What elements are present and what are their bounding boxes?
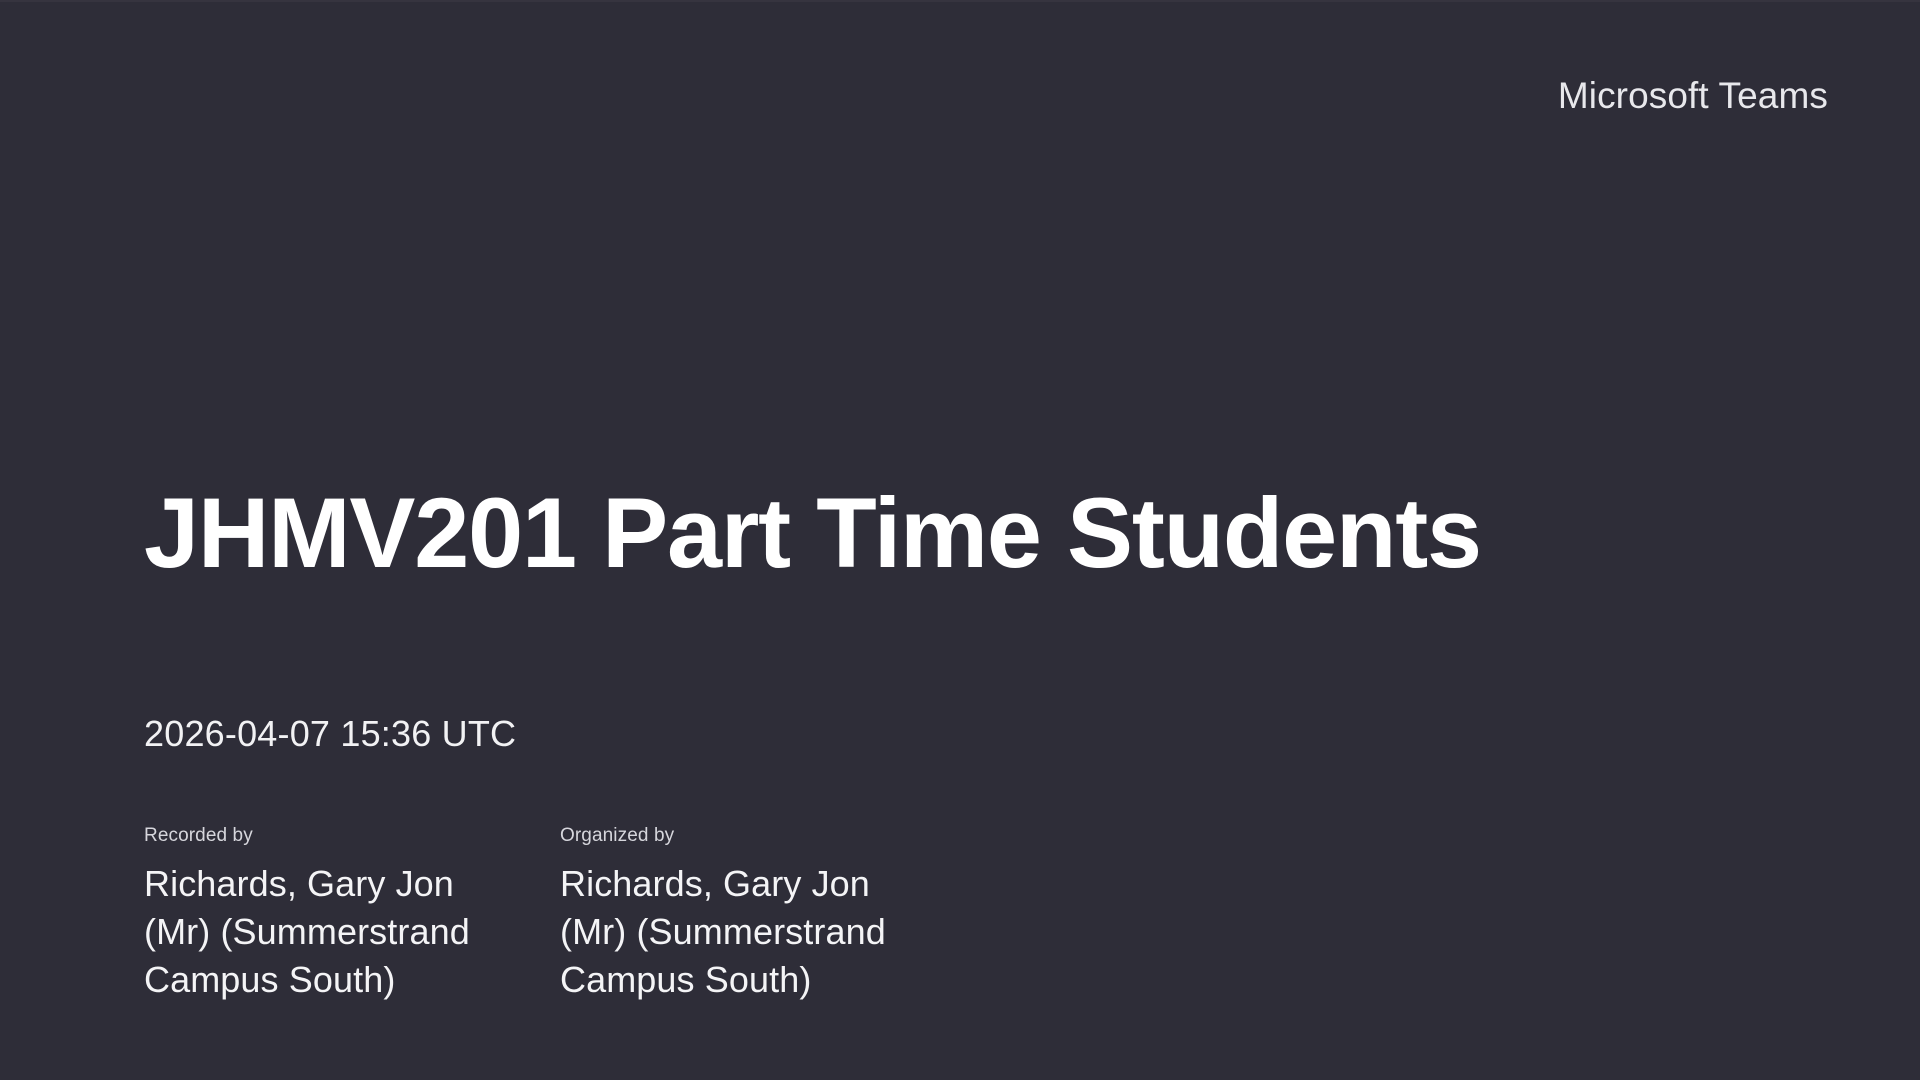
- organized-by-label: Organized by: [560, 824, 960, 848]
- recorded-by-name: Richards, Gary Jon (Mr) (Summerstrand Ca…: [144, 860, 528, 1004]
- organized-by-name: Richards, Gary Jon (Mr) (Summerstrand Ca…: [560, 860, 944, 1004]
- meeting-title: JHMV201 Part Time Students: [144, 477, 1644, 589]
- organized-by-column: Organized by Richards, Gary Jon (Mr) (Su…: [560, 824, 960, 1004]
- microsoft-teams-brand-label: Microsoft Teams: [1558, 74, 1828, 118]
- recorded-by-label: Recorded by: [144, 824, 544, 848]
- meeting-datetime: 2026-04-07 15:36 UTC: [144, 712, 516, 756]
- recorded-by-column: Recorded by Richards, Gary Jon (Mr) (Sum…: [144, 824, 544, 1004]
- recording-title-slide: Microsoft Teams JHMV201 Part Time Studen…: [0, 0, 1920, 1080]
- top-edge-divider: [0, 0, 1920, 2]
